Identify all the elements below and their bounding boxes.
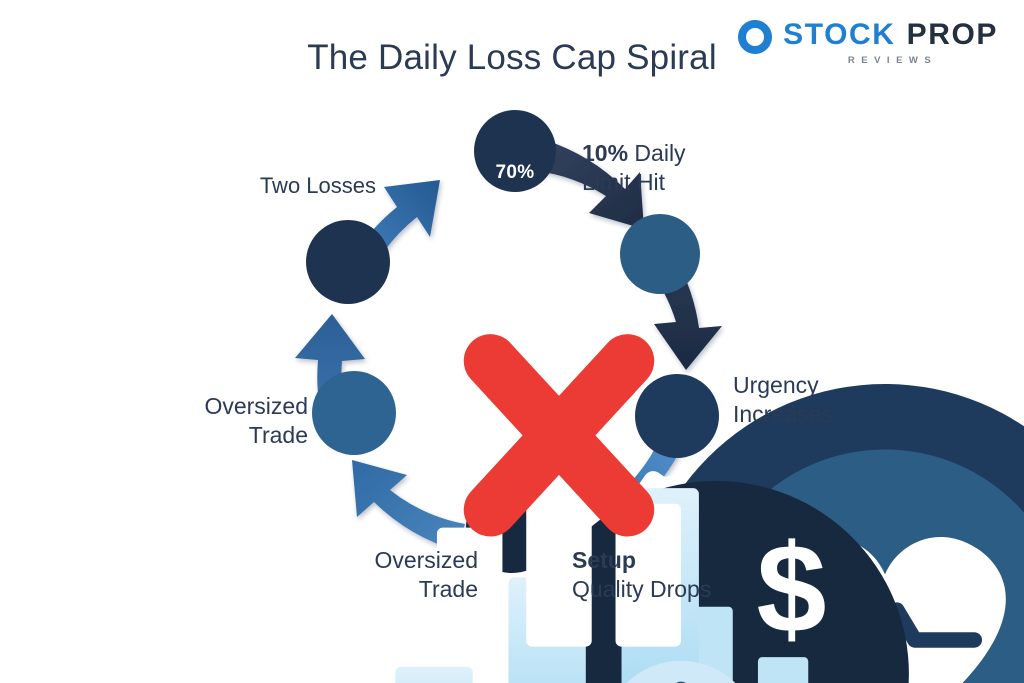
label-two-losses-line1: Two Losses — [86, 172, 376, 200]
logo-text-block: STOCK PROP REVIEWS — [783, 18, 998, 66]
label-oversized-left-line1: Oversized — [12, 392, 308, 421]
label-oversized-trade-bottom: Oversized Trade — [232, 546, 478, 605]
label-two-losses: Two Losses — [86, 172, 376, 200]
infographic-page: The Daily Loss Cap Spiral STOCK PROP REV… — [0, 0, 1024, 683]
node-two-losses[interactable] — [306, 220, 390, 304]
label-urgency-line2: Increases — [733, 400, 833, 429]
gauge-value: 70% — [474, 162, 556, 184]
logo-subtitle: REVIEWS — [783, 55, 998, 66]
label-urgency-line1: Urgency — [733, 371, 833, 400]
label-daily-limit-line1: 10% Daily — [582, 139, 686, 168]
label-oversized-left-line2: Trade — [12, 421, 308, 450]
label-oversized-bottom-line1: Oversized — [232, 546, 478, 575]
label-setup-quality: Setup Quality Drops — [572, 546, 711, 605]
label-daily-limit-bold: 10% — [582, 140, 628, 166]
label-urgency: Urgency Increases — [733, 371, 833, 430]
label-setup-line1: Setup — [572, 546, 711, 575]
label-daily-limit: 10% Daily Limit Hit — [582, 139, 686, 198]
circle-ring-icon — [738, 20, 772, 54]
logo-word-prop: PROP — [907, 18, 998, 52]
label-setup-line2: Quality Drops — [572, 575, 711, 604]
brand-logo: STOCK PROP REVIEWS — [738, 18, 998, 66]
label-oversized-trade-left: Oversized Trade — [12, 392, 308, 451]
node-daily-limit[interactable]: 70% — [474, 110, 556, 192]
logo-wordmark: STOCK PROP — [783, 18, 998, 52]
label-daily-limit-rest: Daily — [628, 140, 686, 166]
label-daily-limit-line2: Limit Hit — [582, 168, 686, 197]
label-oversized-bottom-line2: Trade — [232, 575, 478, 604]
bar-chart-x-icon — [306, 220, 806, 683]
logo-word-stock: STOCK — [783, 18, 895, 52]
